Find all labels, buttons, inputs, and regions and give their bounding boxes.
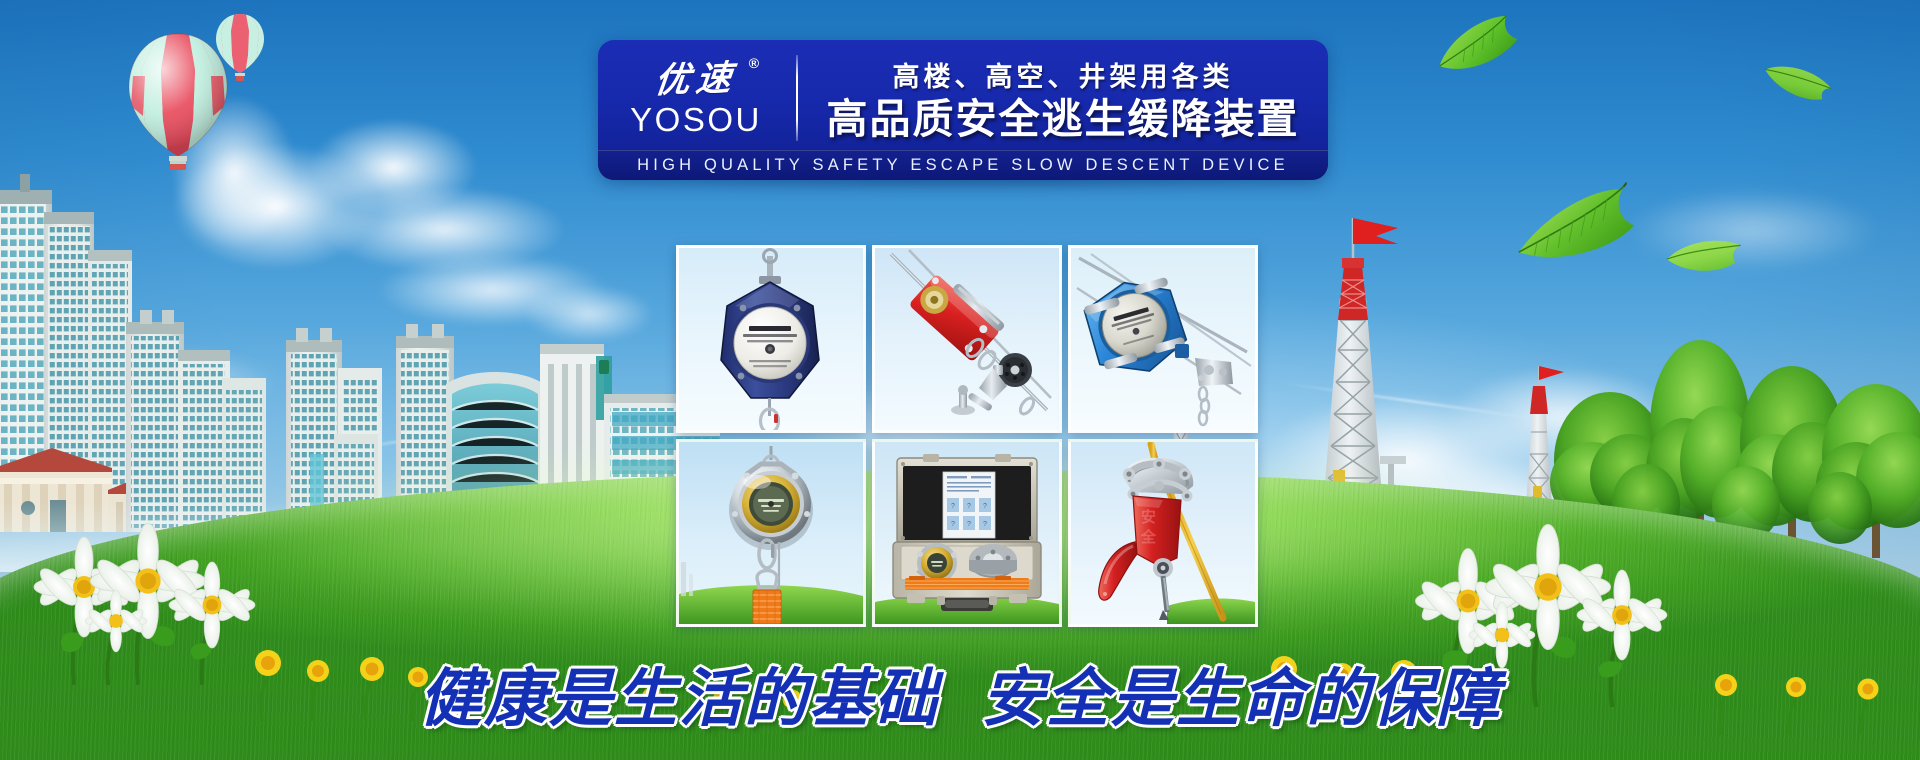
svg-text:全: 全 — [1140, 528, 1157, 546]
svg-text:?: ? — [951, 503, 955, 510]
hot-air-balloon-small — [214, 12, 266, 93]
bottom-slogan: 健康是生活的基础安全是生命的保障 — [0, 648, 1920, 739]
product-thumb-3[interactable] — [1068, 245, 1258, 433]
registered-trademark-icon: ® — [748, 55, 759, 69]
svg-text:?: ? — [983, 521, 987, 528]
english-subtitle: HIGH QUALITY SAFETY ESCAPE SLOW DESCENT … — [637, 156, 1289, 175]
brand-logo-english: YOSOU — [630, 101, 762, 139]
product-thumb-2[interactable] — [872, 245, 1062, 433]
svg-text:?: ? — [983, 503, 987, 510]
brand-logo-chinese: 优速 ® — [653, 60, 739, 98]
vertical-divider — [796, 55, 798, 141]
product-thumb-1[interactable] — [676, 245, 866, 433]
header-panel-top: 优速 ® YOSOU 高楼、高空、井架用各类 高品质安全逃生缓降装置 — [598, 40, 1328, 150]
slogan-part-2: 安全是生命的保障 — [981, 662, 1501, 735]
headline-subtitle: 高楼、高空、井架用各类 — [893, 55, 1234, 94]
svg-text:安: 安 — [1141, 508, 1156, 526]
svg-text:?: ? — [967, 521, 971, 528]
product-thumb-5[interactable]: ??? ??? — [872, 439, 1062, 627]
brand-logo[interactable]: 优速 ® YOSOU — [598, 58, 794, 139]
product-grid: ??? ??? — [676, 245, 1258, 627]
headline-main: 高品质安全逃生缓降装置 — [827, 97, 1300, 141]
svg-text:?: ? — [951, 521, 955, 528]
product-thumb-4[interactable] — [676, 439, 866, 627]
product-thumb-6[interactable]: 安全 — [1068, 439, 1258, 627]
promotional-banner: 优速 ® YOSOU 高楼、高空、井架用各类 高品质安全逃生缓降装置 HIGH … — [0, 0, 1920, 760]
header-panel-bottom: HIGH QUALITY SAFETY ESCAPE SLOW DESCENT … — [598, 150, 1328, 180]
svg-text:?: ? — [967, 503, 971, 510]
slogan-part-1: 健康是生活的基础 — [419, 662, 939, 735]
header-panel: 优速 ® YOSOU 高楼、高空、井架用各类 高品质安全逃生缓降装置 HIGH … — [598, 40, 1328, 180]
headline-group: 高楼、高空、井架用各类 高品质安全逃生缓降装置 — [804, 55, 1328, 141]
brand-logo-chinese-text: 优速 — [653, 58, 739, 100]
